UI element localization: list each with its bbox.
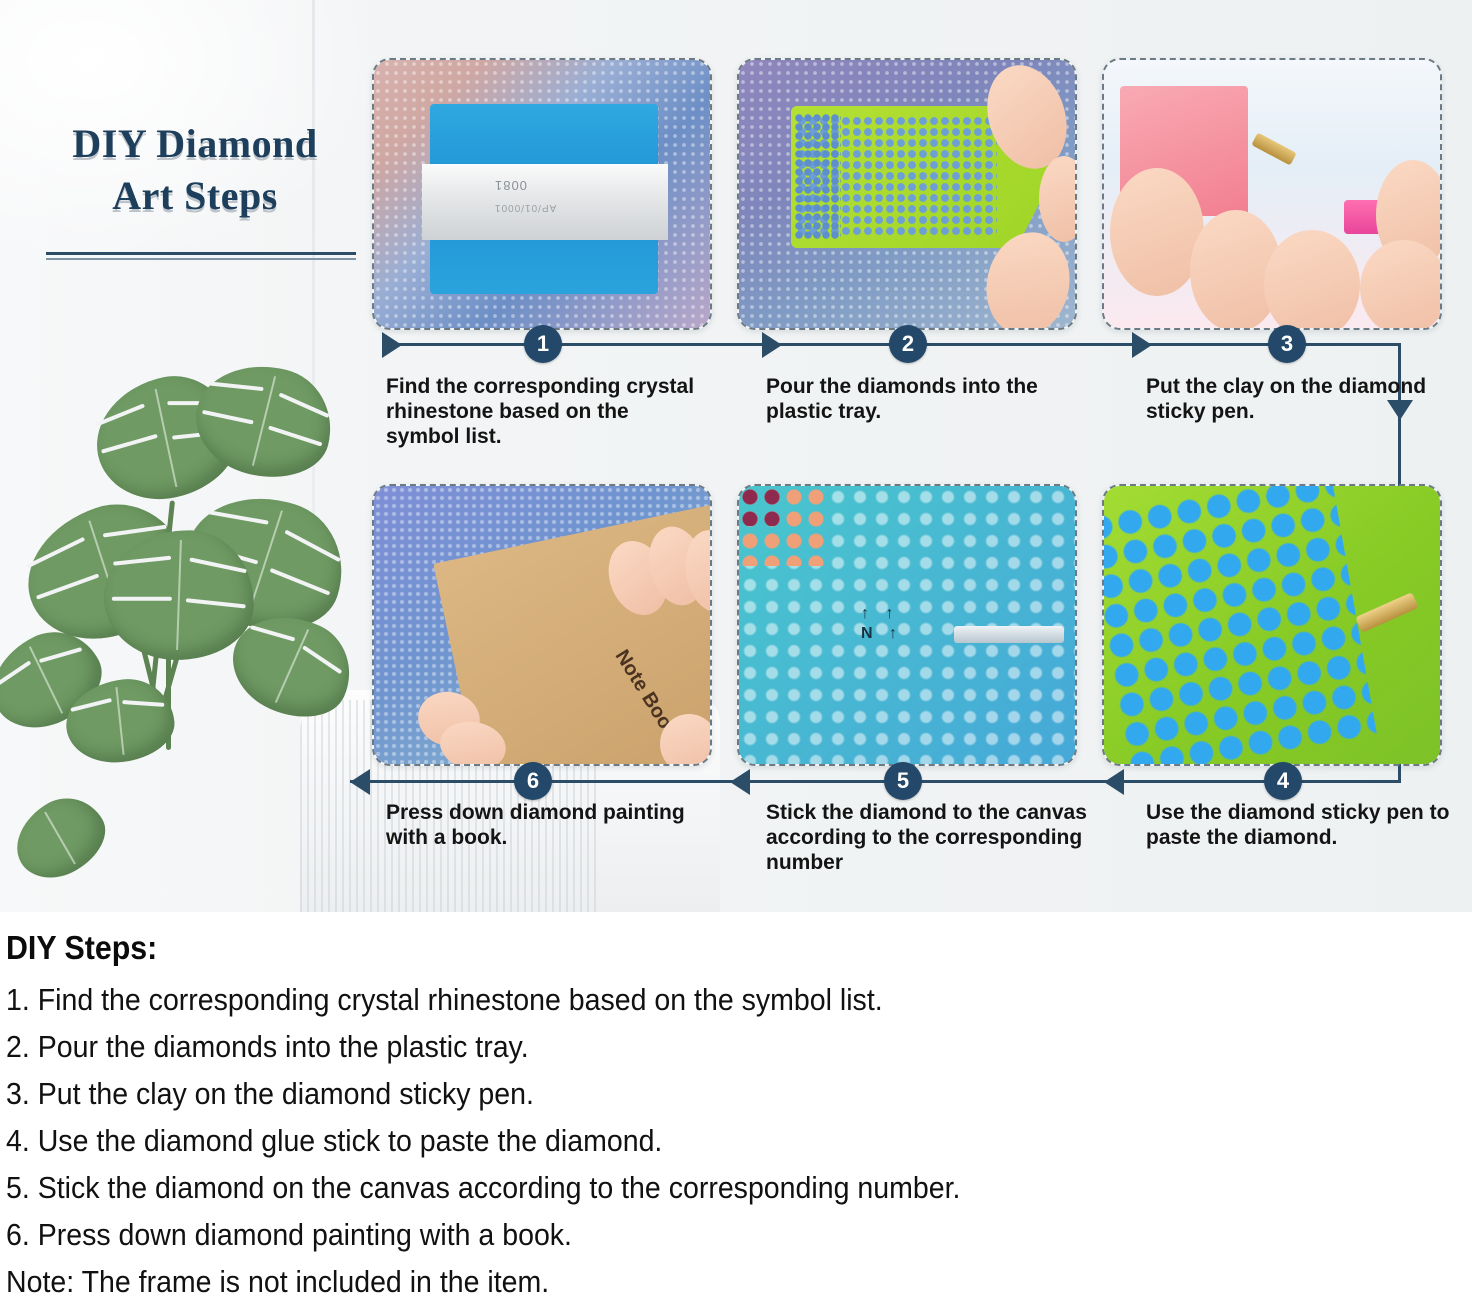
step-number-6: 6	[514, 762, 552, 800]
instruction-line-1: 1. Find the corresponding crystal rhines…	[6, 985, 1355, 1015]
step-number-5: 5	[884, 762, 922, 800]
step-5-caption: Stick the diamond to the canvas accordin…	[766, 800, 1088, 875]
instruction-line-4: 4. Use the diamond glue stick to paste t…	[6, 1126, 1355, 1156]
arrow-right-icon-1	[382, 332, 402, 358]
step-3-caption: Put the clay on the diamond sticky pen.	[1146, 374, 1468, 424]
instructions-heading: DIY Steps:	[6, 928, 1355, 968]
step-4-caption: Use the diamond sticky pen to paste the …	[1146, 800, 1472, 850]
step-2-caption: Pour the diamonds into the plastic tray.	[766, 374, 1088, 424]
step-2-photo	[737, 58, 1077, 330]
step-5-photo: ↑ ↑N ↑	[737, 484, 1077, 766]
step-number-2: 2	[889, 325, 927, 363]
instruction-line-3: 3. Put the clay on the diamond sticky pe…	[6, 1079, 1355, 1109]
step-number-4: 4	[1264, 762, 1302, 800]
packet-label-bottom: AP/01/0001	[494, 202, 556, 213]
title-underline	[46, 252, 356, 260]
step-6-caption: Press down diamond painting with a book.	[386, 800, 731, 850]
instruction-line-2: 2. Pour the diamonds into the plastic tr…	[6, 1032, 1355, 1062]
page-title: DIY Diamond Art Steps	[30, 118, 360, 222]
step-4-photo	[1102, 484, 1442, 766]
diy-diamond-art-instruction-sheet: DIY Diamond Art Steps	[0, 0, 1472, 1300]
arrow-right-icon-3	[1132, 332, 1152, 358]
step-1-photo: 0081 AP/01/0001	[372, 58, 712, 330]
step-1-caption: Find the corresponding crystal rhineston…	[386, 374, 708, 449]
flow-line-row2	[350, 780, 1400, 783]
step-number-1: 1	[524, 325, 562, 363]
instruction-note: Note: The frame is not included in the i…	[6, 1267, 1355, 1297]
instruction-line-5: 5. Stick the diamond on the canvas accor…	[6, 1173, 1355, 1203]
instructions-block: DIY Steps: 1. Find the corresponding cry…	[0, 912, 1472, 1300]
instruction-line-6: 6. Press down diamond painting with a bo…	[6, 1220, 1355, 1250]
arrow-left-icon-3	[1104, 769, 1124, 795]
step-number-3: 3	[1268, 325, 1306, 363]
step-6-photo: Note Book	[372, 484, 712, 766]
arrow-left-icon-2	[730, 769, 750, 795]
step-3-photo	[1102, 58, 1442, 330]
monstera-plant-illustration	[0, 350, 360, 910]
title-line-1: DIY Diamond	[30, 118, 360, 170]
title-line-2: Art Steps	[30, 170, 360, 222]
packet-label-top: 0081	[494, 178, 527, 193]
infographic-area: DIY Diamond Art Steps	[0, 0, 1472, 912]
symbol-markers: ↑ ↑N ↑	[861, 604, 903, 644]
arrow-right-icon-2	[762, 332, 782, 358]
arrow-left-icon-1	[350, 769, 370, 795]
